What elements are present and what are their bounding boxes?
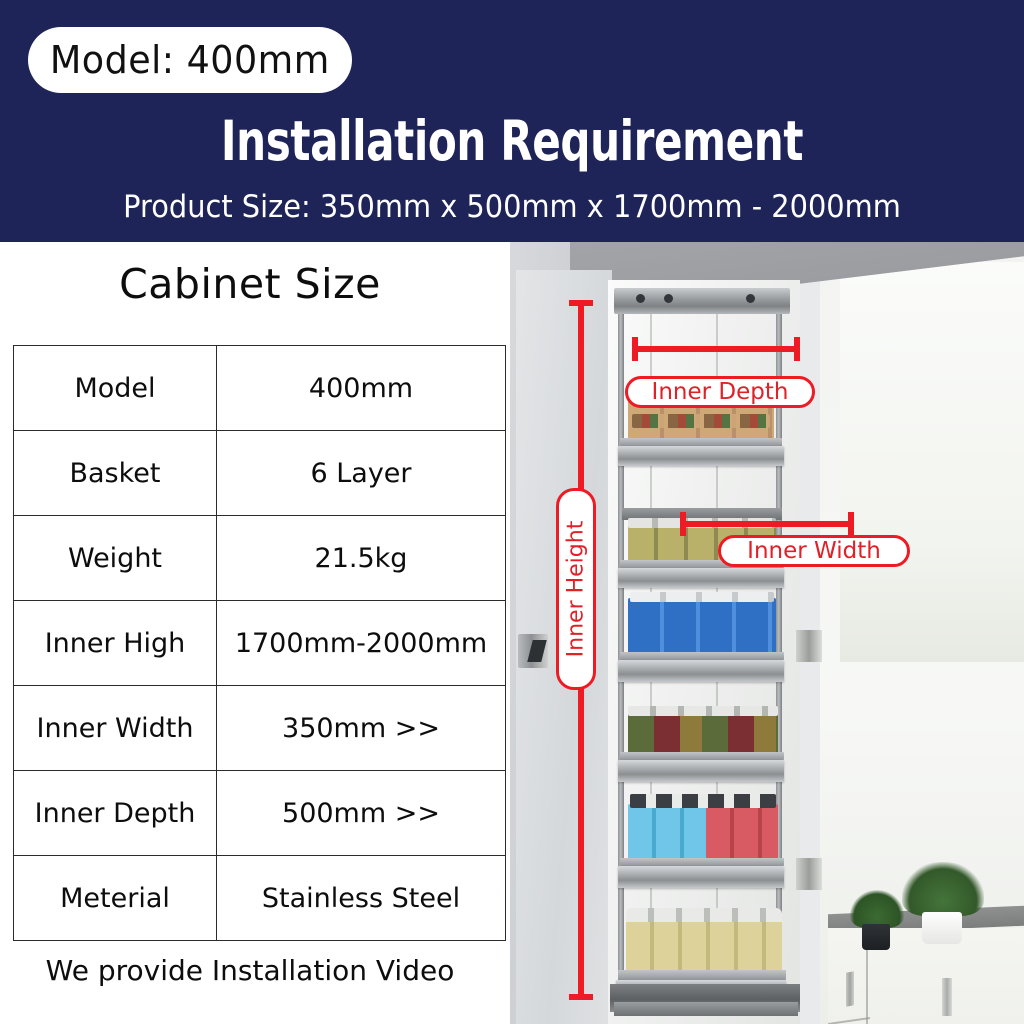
spec-key: Inner High [14, 601, 217, 686]
door-hinge-icon [796, 630, 822, 662]
inner-height-cap-top [569, 300, 593, 306]
inner-width-measure-line [680, 521, 854, 527]
spec-value: 1700mm-2000mm [217, 601, 506, 686]
table-row: Inner Depth 500mm >> [14, 771, 506, 856]
table-row: Basket 6 Layer [14, 431, 506, 516]
drawer-handle-icon [846, 971, 854, 1006]
basket-layer-5 [618, 866, 784, 888]
spec-value: 500mm >> [217, 771, 506, 856]
door-hinge-icon [796, 858, 822, 890]
basket-front-rail [620, 752, 784, 760]
spec-key: Inner Width [14, 686, 217, 771]
inner-width-label-text: Inner Width [747, 540, 881, 563]
spec-table: Model 400mm Basket 6 Layer Weight 21.5kg… [13, 345, 506, 941]
spec-key: Basket [14, 431, 217, 516]
slide-bolt [746, 294, 755, 303]
spec-panel: Cabinet Size Model 400mm Basket 6 Layer … [0, 242, 510, 1024]
inner-height-cap-bottom [569, 994, 593, 1000]
table-row: Inner Width 350mm >> [14, 686, 506, 771]
bottle-caps [630, 794, 776, 808]
header-banner: Model: 400mm Installation Requirement Pr… [0, 0, 1024, 242]
jar-lids [628, 706, 778, 716]
basket-contents-asparagus-jars [626, 918, 782, 972]
basket-layer-3 [618, 660, 784, 682]
window-light [840, 262, 1024, 662]
inner-depth-cap-left [632, 337, 638, 361]
model-badge: Model: 400mm [28, 27, 352, 93]
product-photo: Inner Depth Inner Width Inner Height [510, 242, 1024, 1024]
spec-key: Meterial [14, 856, 217, 941]
inner-width-label: Inner Width [718, 535, 910, 567]
cabinet-handle-icon [942, 978, 952, 1016]
spec-key: Inner Depth [14, 771, 217, 856]
spec-value: 6 Layer [217, 431, 506, 516]
spec-value: 21.5kg [217, 516, 506, 601]
model-badge-label: Model: 400mm [50, 41, 330, 79]
plant-foliage [850, 890, 904, 928]
basket-front-rail [620, 652, 784, 660]
page-title: Installation Requirement [72, 113, 953, 171]
table-row: Inner High 1700mm-2000mm [14, 601, 506, 686]
basket-contents-bottles-red [706, 804, 778, 860]
slide-bolt [664, 294, 673, 303]
jar-lids [626, 908, 782, 922]
spec-key: Weight [14, 516, 217, 601]
table-row: Model 400mm [14, 346, 506, 431]
inner-depth-measure-line [632, 346, 800, 352]
basket-contents-blue-cartons [628, 598, 776, 656]
carton-caps [630, 592, 774, 602]
inner-depth-label: Inner Depth [625, 376, 815, 408]
inner-height-label-text: Inner Height [565, 521, 587, 658]
infographic-page: Model: 400mm Installation Requirement Pr… [0, 0, 1024, 1024]
basket-contents-labels [632, 414, 770, 428]
spec-key: Model [14, 346, 217, 431]
table-row: Weight 21.5kg [14, 516, 506, 601]
plant-pot-dark [862, 924, 890, 950]
spec-value: 400mm [217, 346, 506, 431]
inner-width-cap-left [680, 512, 686, 536]
basket-contents-preserve-jars [628, 712, 778, 754]
basket-layer-1 [618, 446, 784, 466]
inner-depth-cap-right [794, 337, 800, 361]
basket-layer-2 [618, 568, 784, 588]
inner-width-cap-right [848, 512, 854, 536]
product-size-subtitle: Product Size: 350mm x 500mm x 1700mm - 2… [36, 190, 988, 224]
plant-foliage [902, 862, 984, 916]
spec-value: Stainless Steel [217, 856, 506, 941]
basket-front-rail [618, 970, 786, 980]
spec-value: 350mm >> [217, 686, 506, 771]
basket-front-rail [620, 438, 782, 446]
slide-bolt [636, 294, 645, 303]
table-row: Meterial Stainless Steel [14, 856, 506, 941]
basket-layer-4 [618, 760, 784, 782]
inner-height-label: Inner Height [556, 488, 596, 690]
plant-pot-white [922, 912, 962, 944]
installation-video-note: We provide Installation Video [0, 954, 500, 987]
cabinet-size-heading: Cabinet Size [0, 260, 500, 308]
basket-front-rail [620, 858, 784, 866]
inner-depth-label-text: Inner Depth [652, 381, 789, 404]
pull-out-frame-base-rail [614, 1002, 798, 1016]
